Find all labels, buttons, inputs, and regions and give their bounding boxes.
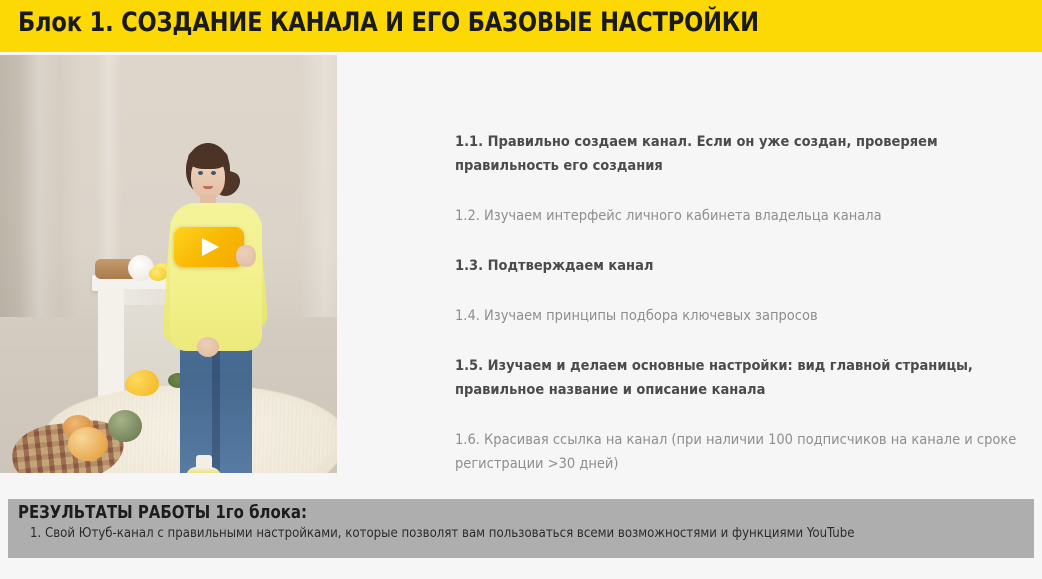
lesson-item-1-4[interactable]: 1.4. Изучаем принципы подбора ключевых з…: [455, 304, 1021, 328]
lesson-item-1-6[interactable]: 1.6. Красивая ссылка на канал (при налич…: [455, 428, 1021, 476]
person-eye: [198, 171, 203, 175]
photo-background: [0, 55, 337, 473]
lesson-item-1-1[interactable]: 1.1. Правильно создаем канал. Если он уж…: [455, 130, 1021, 178]
lesson-item-1-2[interactable]: 1.2. Изучаем интерфейс личного кабинета …: [455, 204, 1021, 228]
main-content: 1.1. Правильно создаем канал. Если он уж…: [0, 52, 1042, 492]
person-left-hand: [197, 337, 219, 357]
person-sweater: [170, 203, 262, 351]
lesson-item-1-3[interactable]: 1.3. Подтверждаем канал: [455, 254, 1021, 278]
play-triangle-icon: [202, 238, 219, 256]
results-band: РЕЗУЛЬТАТЫ РАБОТЫ 1го блока: 1. Свой Юту…: [8, 499, 1034, 558]
person-mouth: [203, 186, 213, 189]
header-banner: Блок 1. СОЗДАНИЕ КАНАЛА И ЕГО БАЗОВЫЕ НА…: [0, 0, 1042, 52]
video-thumbnail[interactable]: [0, 55, 337, 473]
photo-person: [0, 55, 337, 473]
lesson-list: 1.1. Правильно создаем канал. Если он уж…: [455, 130, 1025, 502]
play-button-icon[interactable]: [174, 227, 244, 267]
results-item-1: 1. Свой Ютуб-канал с правильными настрой…: [30, 525, 854, 541]
person-right-hand: [236, 245, 256, 267]
results-title: РЕЗУЛЬТАТЫ РАБОТЫ 1го блока:: [18, 503, 307, 523]
person-bangs: [188, 147, 228, 169]
lesson-item-1-5[interactable]: 1.5. Изучаем и делаем основные настройки…: [455, 354, 1021, 402]
person-eye: [211, 171, 216, 175]
page-title: Блок 1. СОЗДАНИЕ КАНАЛА И ЕГО БАЗОВЫЕ НА…: [18, 7, 759, 38]
